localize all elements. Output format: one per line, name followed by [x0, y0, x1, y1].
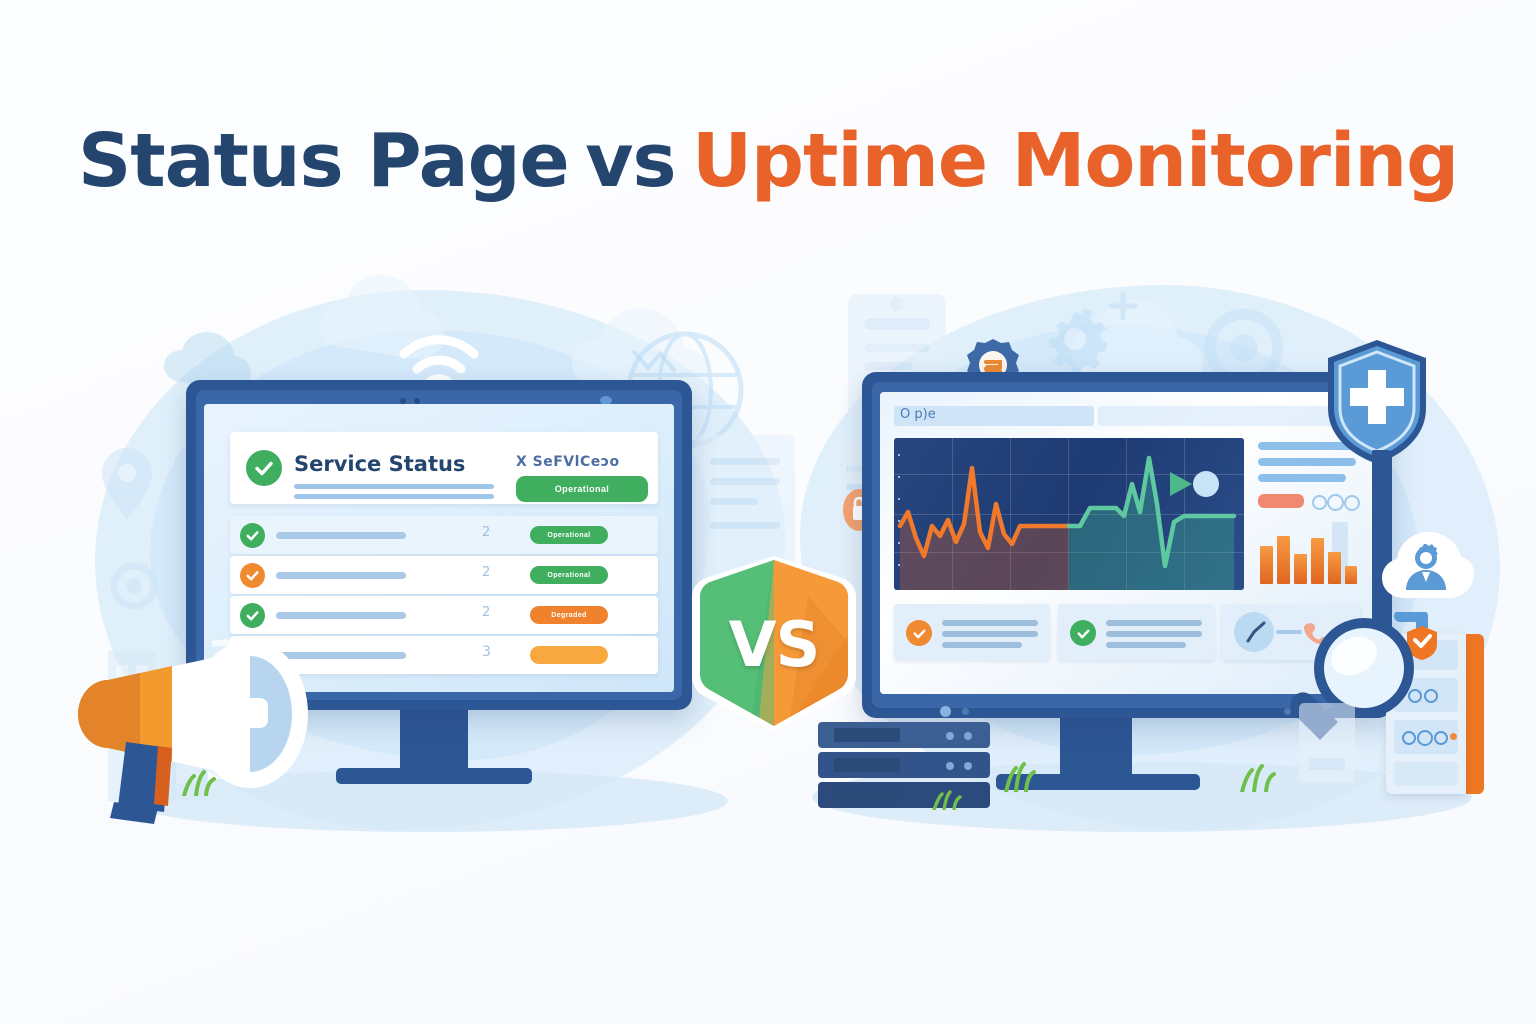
server-slot: [834, 788, 900, 802]
response-time-chart: [894, 438, 1244, 590]
ring-indicator: [1417, 730, 1433, 746]
status-dot: [964, 732, 972, 740]
service-status-header-card: Service Status X SeFVlCeɔo Operational: [230, 432, 658, 504]
gear-icon: [106, 558, 162, 614]
row-meta: 2: [482, 565, 491, 580]
grass-decor: [178, 766, 218, 796]
grass-decor: [1000, 758, 1040, 792]
ring-indicator: [1434, 731, 1448, 745]
card-line: [1106, 631, 1202, 637]
page-title: Status Page vs Uptime Monitoring: [0, 118, 1536, 204]
mini-bar-chart: [1254, 518, 1360, 590]
row-label-line: [276, 532, 406, 539]
status-card[interactable]: [1058, 604, 1214, 660]
server-slot: [834, 728, 900, 742]
row-meta: 2: [482, 525, 491, 540]
document-icon: [1296, 700, 1358, 786]
row-meta: 3: [482, 644, 491, 660]
row-status-badge[interactable]: [530, 646, 608, 664]
grass-decor: [930, 786, 964, 810]
card-line: [942, 620, 1038, 626]
row-status-badge[interactable]: Operational: [530, 526, 608, 544]
dashboard-topbar-label: O p)e: [900, 407, 936, 422]
megaphone-icon: [62, 636, 332, 826]
side-status-pill: [1258, 494, 1304, 508]
side-line: [1258, 474, 1346, 482]
card-line: [942, 631, 1038, 637]
card-line: [1106, 642, 1186, 648]
monitor-stand-base: [336, 768, 532, 784]
server-stack-icon: [818, 722, 998, 812]
bar: [1294, 554, 1307, 584]
status-dot: [946, 732, 954, 740]
location-pin-icon: [92, 440, 162, 530]
vs-label: VS: [688, 556, 860, 732]
row-status-badge[interactable]: Degraded: [530, 606, 608, 624]
header-line: [294, 494, 494, 499]
title-status-page: Status Page: [78, 118, 569, 204]
status-card[interactable]: [894, 604, 1050, 660]
status-dot: [946, 762, 954, 770]
status-dot: [964, 762, 972, 770]
service-brand-label: X SeFVlCeɔo: [516, 454, 620, 470]
check-circle-icon: [1070, 620, 1096, 646]
title-uptime-monitoring: Uptime Monitoring: [692, 118, 1458, 204]
table-row[interactable]: 2 Operational: [230, 516, 658, 554]
gauge-icon: [1234, 612, 1274, 652]
check-circle-icon: [240, 603, 265, 628]
plus-icon: [1105, 288, 1141, 324]
status-dot: [1450, 733, 1457, 740]
power-led: [940, 706, 951, 717]
card-line: [1106, 620, 1202, 626]
check-circle-icon: [246, 450, 282, 486]
bar: [1311, 538, 1324, 584]
server-slot: [834, 758, 900, 772]
illustration-canvas: Status Page vs Uptime Monitoring: [0, 0, 1536, 1024]
ring-indicator: [1344, 495, 1360, 511]
row-status-badge[interactable]: Operational: [530, 566, 608, 584]
monitor-stand-neck: [400, 700, 468, 772]
header-status-badge[interactable]: Operational: [516, 476, 648, 502]
row-label-line: [276, 612, 406, 619]
shield-cross-icon: [1322, 338, 1432, 466]
row-meta: 2: [482, 605, 491, 620]
table-row[interactable]: 2 Operational: [230, 556, 658, 594]
gear-icon: [1036, 300, 1114, 378]
ring-indicator: [1312, 495, 1327, 510]
card-line: [942, 642, 1022, 648]
title-vs: vs: [585, 118, 675, 204]
vs-badge: VS: [688, 556, 860, 732]
bar: [1328, 552, 1341, 584]
table-row[interactable]: 2 Degraded: [230, 596, 658, 634]
bar: [1277, 536, 1290, 584]
row-label-line: [276, 572, 406, 579]
grass-decor: [1236, 760, 1280, 792]
ring-indicator: [1424, 689, 1438, 703]
ring-indicator: [1327, 494, 1344, 511]
check-circle-icon: [240, 523, 265, 548]
check-circle-icon: [906, 620, 932, 646]
indicator-led: [962, 708, 969, 715]
check-circle-icon: [240, 563, 265, 588]
user-gear-cloud-icon: [1378, 528, 1474, 614]
dashboard-topbar-right: [1098, 406, 1360, 426]
header-line: [294, 484, 494, 489]
bar: [1260, 546, 1273, 584]
bar: [1345, 566, 1357, 584]
service-status-title: Service Status: [294, 452, 465, 476]
